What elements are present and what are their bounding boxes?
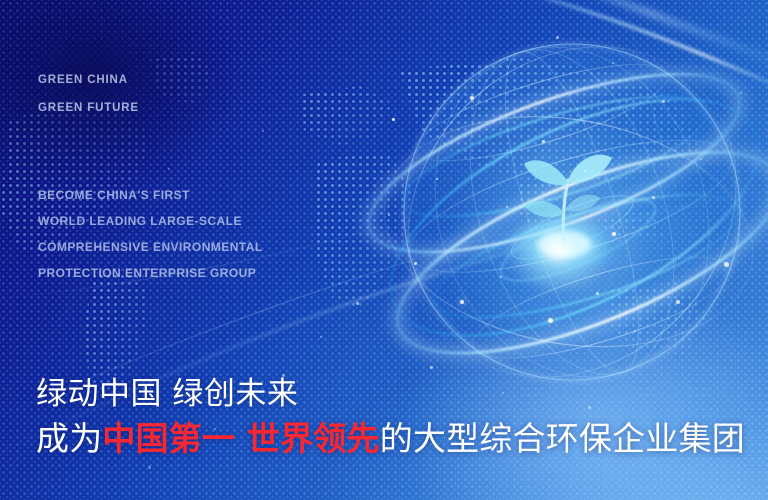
subtitle-line-3: COMPREHENSIVE ENVIRONMENTAL	[38, 240, 263, 254]
headline-highlight: 中国第一 世界领先	[102, 419, 379, 458]
hero-banner: GREEN CHINA GREEN FUTURE BECOME CHINA'S …	[0, 0, 768, 500]
headline-prefix: 成为	[36, 419, 102, 458]
headline-suffix: 的大型综合环保企业集团	[380, 419, 745, 458]
globe-svg	[362, 2, 768, 422]
eyebrow-line-1: GREEN CHINA	[38, 74, 128, 86]
wireframe-globe	[362, 2, 768, 422]
subtitle-line-1: BECOME CHINA'S FIRST	[38, 188, 190, 202]
headline-line-1: 绿动中国 绿创未来	[36, 368, 298, 413]
headline-line-2: 成为中国第一 世界领先的大型综合环保企业集团	[36, 412, 745, 460]
eyebrow-line-2: GREEN FUTURE	[38, 102, 139, 114]
subtitle-line-2: WORLD LEADING LARGE-SCALE	[38, 214, 242, 228]
subtitle-line-4: PROTECTION ENTERPRISE GROUP	[38, 266, 256, 280]
